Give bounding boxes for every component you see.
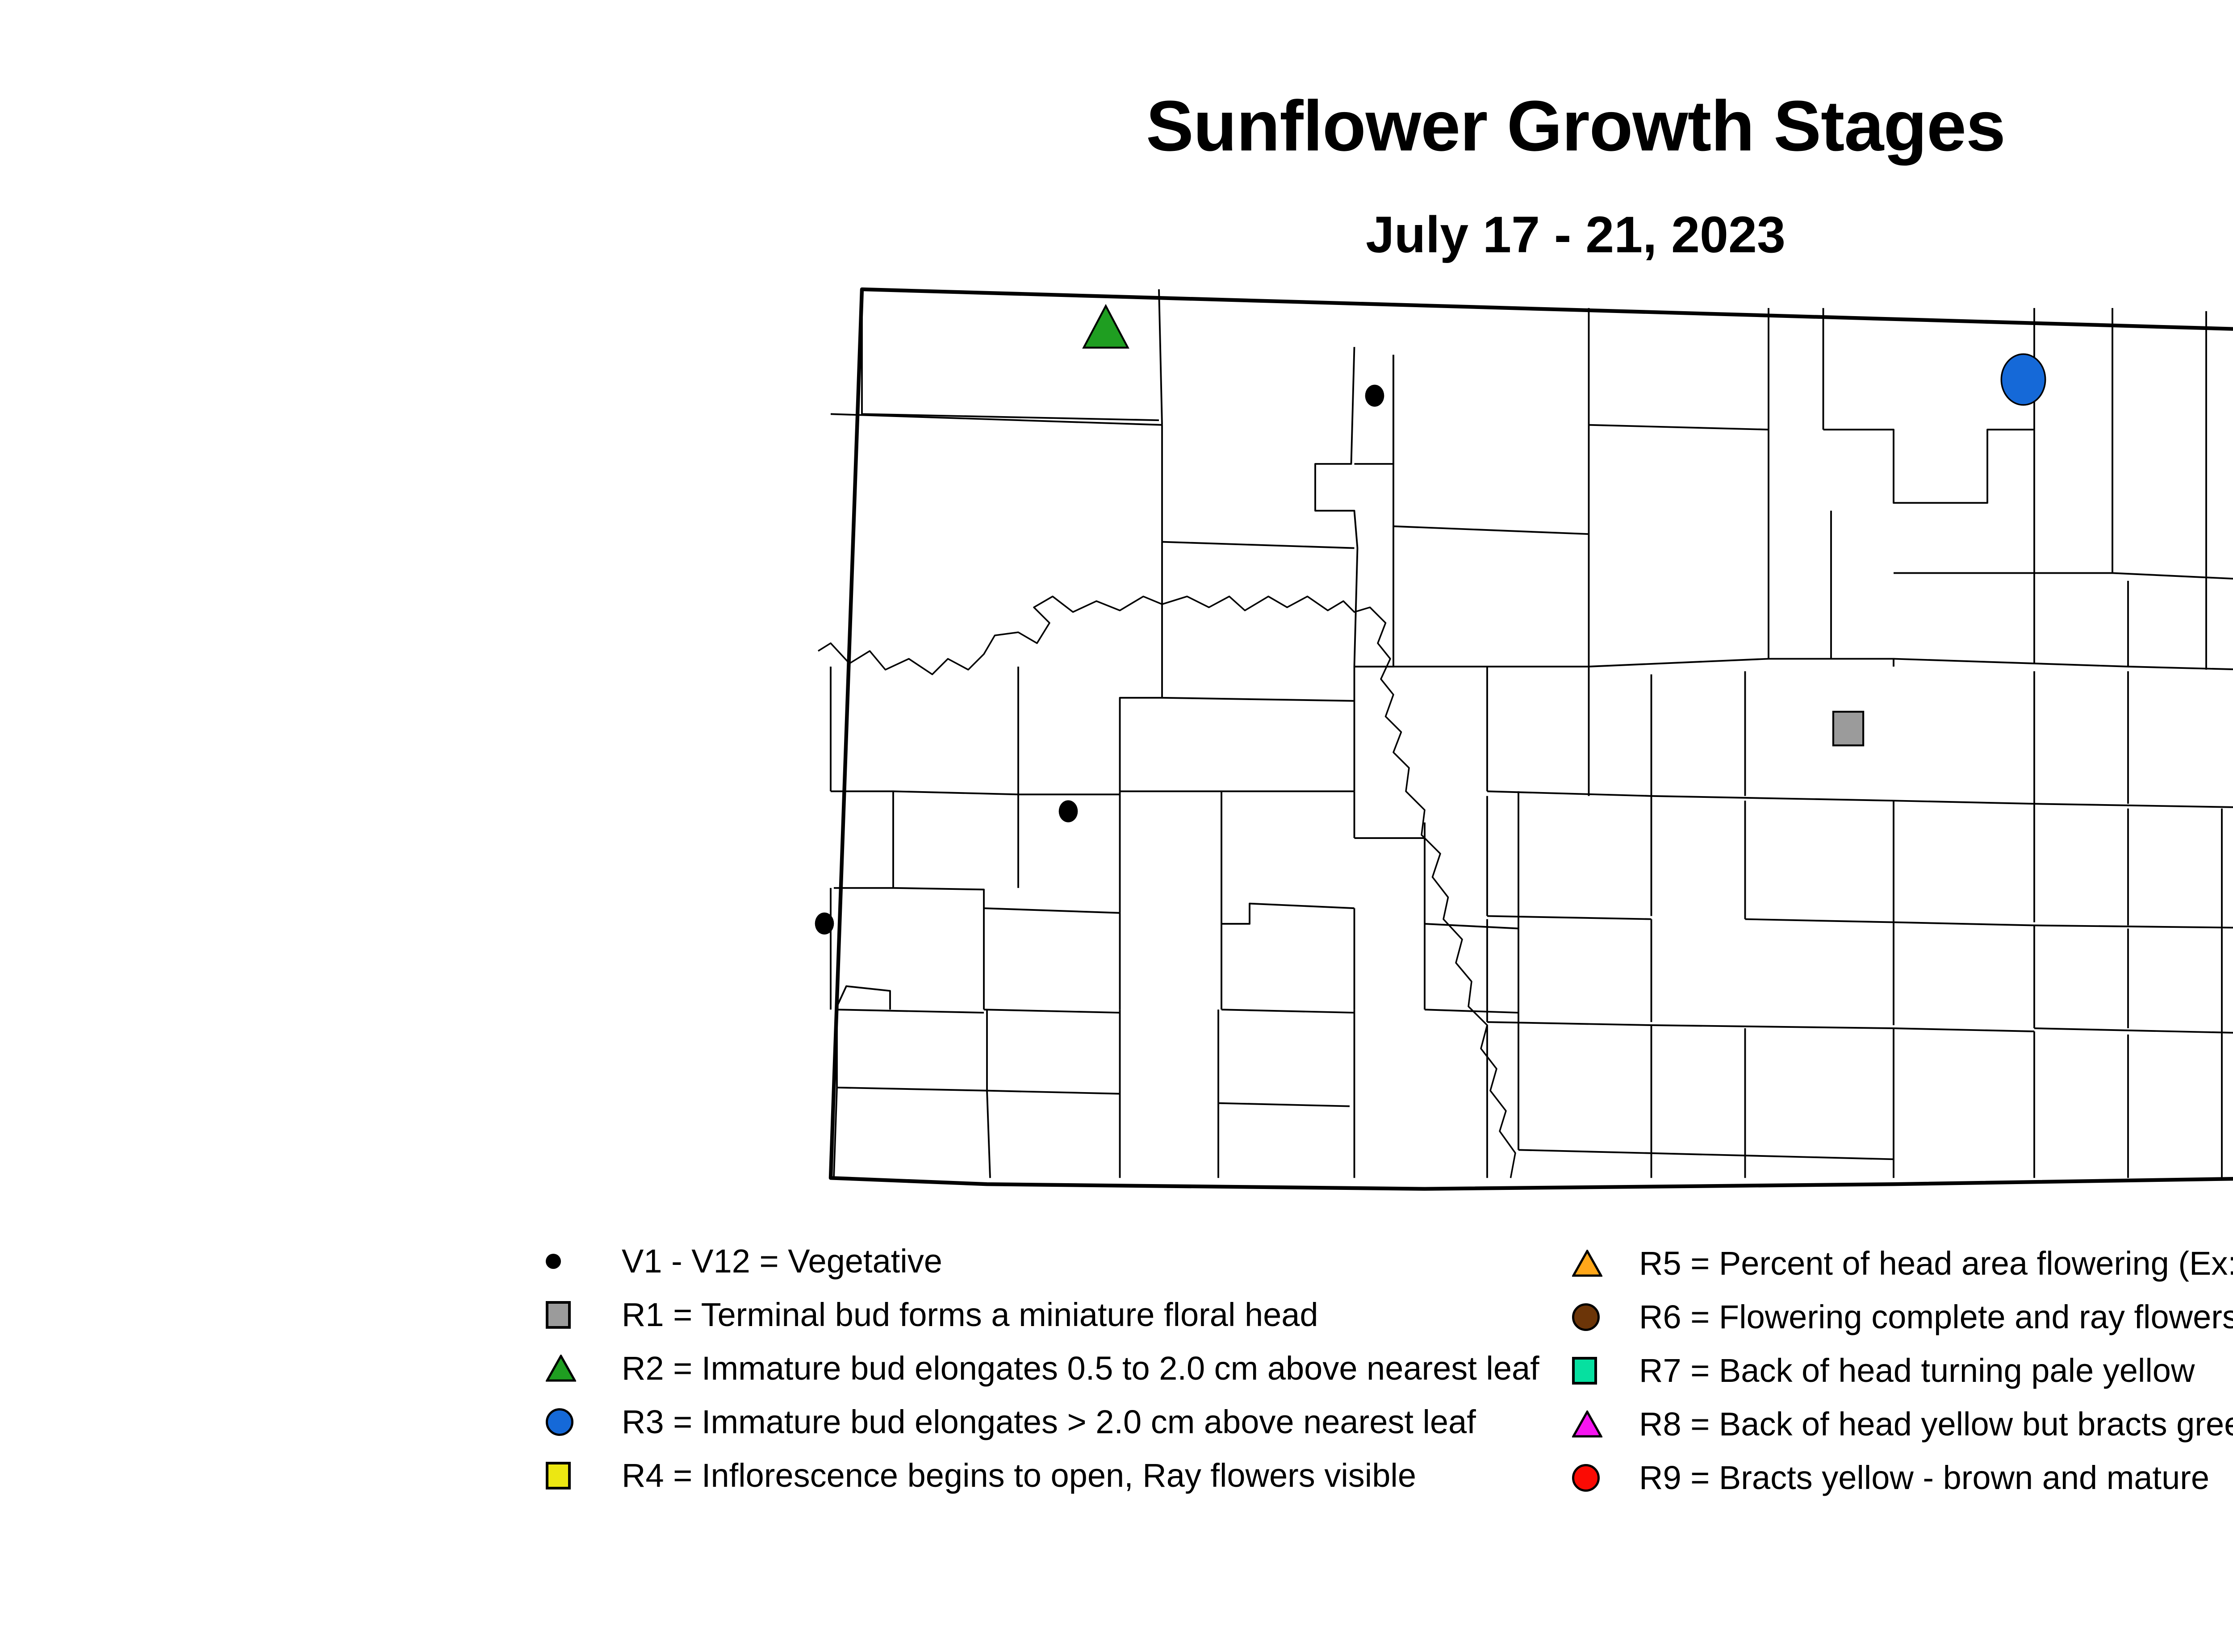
map-marker-r2	[1084, 306, 1128, 347]
legend-square-icon	[1572, 1357, 1597, 1385]
legend-column-left: V1 - V12 = VegetativeR1 = Terminal bud f…	[546, 1235, 1573, 1502]
legend-item: R3 = Immature bud elongates > 2.0 cm abo…	[546, 1395, 1573, 1449]
legend-item: R2 = Immature bud elongates 0.5 to 2.0 c…	[546, 1342, 1573, 1395]
legend-item-label: R4 = Inflorescence begins to open, Ray f…	[622, 1459, 1416, 1492]
legend-item-label: R3 = Immature bud elongates > 2.0 cm abo…	[622, 1406, 1476, 1439]
missouri-river	[818, 597, 1515, 1178]
north-dakota-county-map	[799, 277, 2233, 1228]
map-markers	[815, 306, 2233, 934]
legend-item: V1 - V12 = Vegetative	[546, 1235, 1573, 1288]
legend-item-label: R8 = Back of head yellow but bracts gree…	[1639, 1408, 2233, 1441]
county-boundaries	[818, 289, 2233, 1189]
page-subtitle: July 17 - 21, 2023	[0, 205, 2233, 264]
map-marker-v1v12	[815, 913, 834, 934]
legend-item: R5 = Percent of head area flowering (Ex:…	[1572, 1237, 2233, 1290]
legend-square-icon	[546, 1462, 571, 1489]
legend-item-label: R6 = Flowering complete and ray flowers …	[1639, 1301, 2233, 1334]
page-root: Sunflower Growth Stages July 17 - 21, 20…	[0, 0, 2233, 1652]
legend-square-icon	[546, 1301, 571, 1329]
legend-triangle-icon	[1572, 1250, 1602, 1277]
page-title: Sunflower Growth Stages	[0, 85, 2233, 167]
legend-item-label: R7 = Back of head turning pale yellow	[1639, 1354, 2195, 1387]
legend-triangle-icon	[1572, 1410, 1602, 1438]
map-marker-r3	[2001, 354, 2045, 405]
state-outline	[831, 289, 2233, 1189]
legend-column-right: R5 = Percent of head area flowering (Ex:…	[1572, 1237, 2233, 1505]
map-marker-v1v12	[1059, 800, 1078, 822]
legend-item-label: R1 = Terminal bud forms a miniature flor…	[622, 1298, 1318, 1331]
map-marker-v1v12	[1365, 385, 1384, 407]
legend-item-label: R5 = Percent of head area flowering (Ex:…	[1639, 1247, 2233, 1280]
legend-item: R9 = Bracts yellow - brown and mature	[1572, 1451, 2233, 1505]
legend-triangle-icon	[546, 1355, 576, 1382]
map-marker-r1	[1833, 712, 1863, 745]
legend-item-label: R2 = Immature bud elongates 0.5 to 2.0 c…	[622, 1352, 1539, 1385]
legend-item-label: V1 - V12 = Vegetative	[622, 1245, 942, 1278]
legend-dot-icon	[546, 1254, 561, 1269]
legend-item: R7 = Back of head turning pale yellow	[1572, 1344, 2233, 1398]
legend-item: R4 = Inflorescence begins to open, Ray f…	[546, 1449, 1573, 1502]
legend-circle-icon	[1572, 1464, 1600, 1492]
legend-item: R6 = Flowering complete and ray flowers …	[1572, 1290, 2233, 1344]
map-svg	[799, 277, 2233, 1228]
legend-item-label: R9 = Bracts yellow - brown and mature	[1639, 1461, 2209, 1494]
legend-circle-icon	[1572, 1303, 1600, 1331]
legend-item: R8 = Back of head yellow but bracts gree…	[1572, 1398, 2233, 1451]
legend-circle-icon	[546, 1408, 573, 1436]
legend-item: R1 = Terminal bud forms a miniature flor…	[546, 1288, 1573, 1342]
